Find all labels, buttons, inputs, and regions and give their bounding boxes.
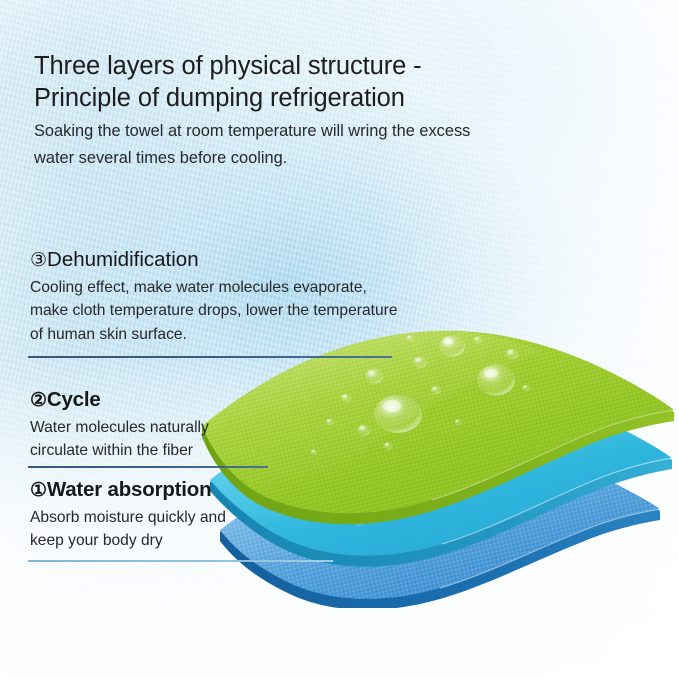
poster-canvas: Three layers of physical structure - Pri… <box>0 0 679 679</box>
step-3-body-line-1: Cooling effect, make water molecules eva… <box>30 276 460 299</box>
step-1-label: Water absorption <box>47 478 212 501</box>
page-subtitle: Soaking the towel at room temperature wi… <box>34 118 594 171</box>
step-1-leader-line <box>28 560 333 562</box>
page-title-line-1: Three layers of physical structure - <box>34 50 634 82</box>
step-1-body-line-2: keep your body dry <box>30 529 330 552</box>
step-3-label: Dehumidification <box>47 248 199 271</box>
step-1-number: ① <box>30 480 47 501</box>
step-1-body: Absorb moisture quickly and keep your bo… <box>30 506 330 553</box>
step-2-leader-line <box>28 466 268 468</box>
step-2-body-line-1: Water molecules naturally <box>30 416 330 439</box>
step-1-title: ①Water absorption <box>30 478 330 502</box>
three-layer-fabric-illustration <box>196 318 679 608</box>
step-water-absorption: ①Water absorption Absorb moisture quickl… <box>30 478 330 553</box>
page-subtitle-line-1: Soaking the towel at room temperature wi… <box>34 118 594 145</box>
step-3-body-line-2: make cloth temperature drops, lower the … <box>30 299 460 322</box>
step-2-body-line-2: circulate within the fiber <box>30 439 330 462</box>
step-dehumidification: ③Dehumidification Cooling effect, make w… <box>30 248 460 346</box>
step-2-number: ② <box>30 390 47 411</box>
step-2-label: Cycle <box>47 388 101 411</box>
page-subtitle-line-2: water several times before cooling. <box>34 145 594 172</box>
page-title-line-2: Principle of dumping refrigeration <box>34 82 634 114</box>
step-2-body: Water molecules naturally circulate with… <box>30 416 330 463</box>
step-cycle: ②Cycle Water molecules naturally circula… <box>30 388 330 463</box>
step-3-leader-line <box>28 356 392 358</box>
step-3-body: Cooling effect, make water molecules eva… <box>30 276 460 346</box>
step-2-title: ②Cycle <box>30 388 330 412</box>
step-3-title: ③Dehumidification <box>30 248 460 272</box>
step-3-body-line-3: of human skin surface. <box>30 323 460 346</box>
page-title: Three layers of physical structure - Pri… <box>34 50 634 114</box>
step-3-number: ③ <box>30 250 47 271</box>
step-1-body-line-1: Absorb moisture quickly and <box>30 506 330 529</box>
